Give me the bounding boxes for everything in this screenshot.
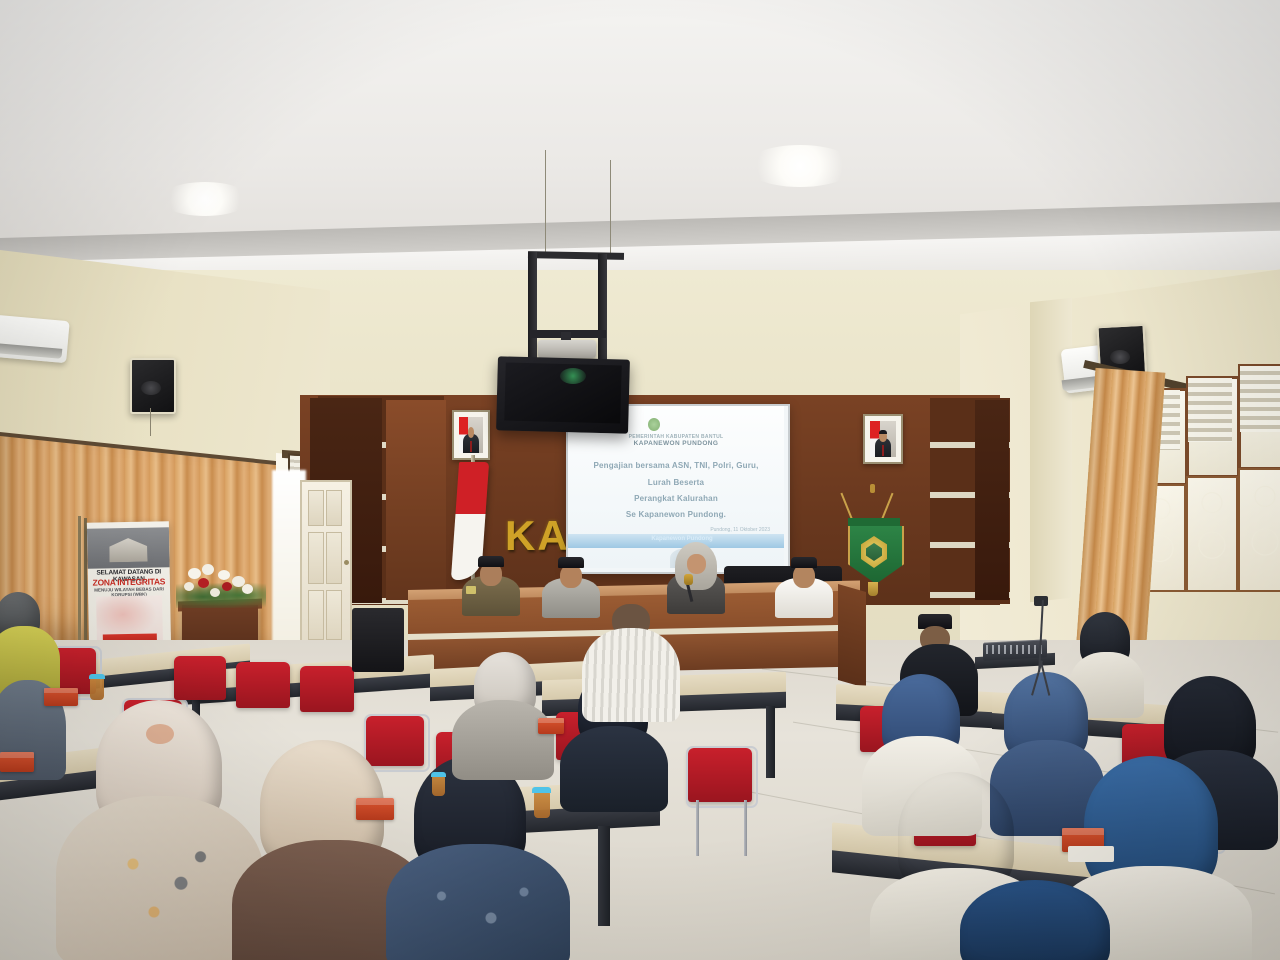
slide-org-line2: KAPANEWON PUNDONG xyxy=(568,440,784,447)
window-louver xyxy=(1240,366,1280,432)
audience-person xyxy=(62,700,252,960)
tv-mount-post xyxy=(598,254,607,364)
snack-box xyxy=(44,688,78,706)
pennant-hook xyxy=(870,484,875,493)
slide-logo-icon xyxy=(648,418,660,431)
ceiling-downlight-icon xyxy=(160,182,250,216)
side-equipment-box xyxy=(352,608,404,672)
audience-person xyxy=(950,880,1130,960)
slide-title-line1: Pengajian bersama ASN, TNI, Polri, Guru, xyxy=(568,461,784,470)
flower-arrangement xyxy=(178,562,264,612)
pennant-tassel xyxy=(868,582,878,596)
drink-cup xyxy=(432,776,445,796)
portrait-vice-president xyxy=(863,414,903,464)
portrait-president xyxy=(452,410,490,460)
audience-person xyxy=(452,652,552,772)
head-table-person-grey xyxy=(542,556,600,604)
chair-leg xyxy=(744,800,747,856)
wood-panel xyxy=(386,400,446,600)
projector-icon xyxy=(538,340,596,358)
zona-integritas-banner: SELAMAT DATANG DI KAWASAN ZONA INTEGRITA… xyxy=(87,521,171,656)
head-table-person-police xyxy=(462,556,520,604)
slide-title-line2: Lurah Beserta xyxy=(568,478,784,487)
microphone-icon xyxy=(684,574,693,585)
cup-lid xyxy=(89,674,105,679)
window-louver xyxy=(1188,378,1232,442)
door-handle-icon[interactable] xyxy=(344,560,349,565)
slide-title-line4: Se Kapanewon Pundong. xyxy=(568,510,784,519)
table-leg xyxy=(766,706,775,778)
tv-power-glow xyxy=(560,368,586,384)
mixer-knobs xyxy=(986,645,1044,654)
tv-mount-post xyxy=(528,252,537,364)
head-table-person-speaker xyxy=(665,542,727,604)
slide-title-line3: Perangkat Kalurahan xyxy=(568,494,784,503)
window-grille xyxy=(1186,476,1238,592)
audience-person xyxy=(582,604,678,714)
snack-box xyxy=(356,798,394,820)
cup-lid xyxy=(431,772,446,777)
snack-box xyxy=(538,718,564,734)
meeting-hall-photo: KAP PEMERINTAH KABUPATEN BANTUL KAPANEWO… xyxy=(0,0,1280,960)
right-wall-column xyxy=(1030,298,1072,602)
window-grille xyxy=(1238,468,1280,592)
phone[interactable] xyxy=(1068,846,1114,862)
chair[interactable] xyxy=(174,656,226,700)
ceiling-downlight-icon xyxy=(745,145,855,187)
drink-cup xyxy=(90,678,104,700)
ceiling-wire xyxy=(610,160,611,256)
chair[interactable] xyxy=(300,666,354,712)
chair-leg xyxy=(696,800,699,856)
speaker-cone xyxy=(1110,350,1130,364)
speaker-cone xyxy=(141,381,161,395)
head-table-person-white xyxy=(775,556,833,604)
table-leg xyxy=(598,826,610,926)
wood-panel-dark xyxy=(975,400,1009,600)
head-table-side xyxy=(838,584,866,688)
room-door[interactable] xyxy=(300,480,352,654)
ceiling-wire xyxy=(545,150,546,254)
slide-date: Pundong, 11 Oktober 2023 xyxy=(568,527,784,533)
speaker-wire xyxy=(150,408,151,436)
snack-box xyxy=(0,752,34,772)
drink-cup xyxy=(534,792,550,818)
chair-frame xyxy=(686,746,758,808)
cup-lid xyxy=(532,787,551,793)
